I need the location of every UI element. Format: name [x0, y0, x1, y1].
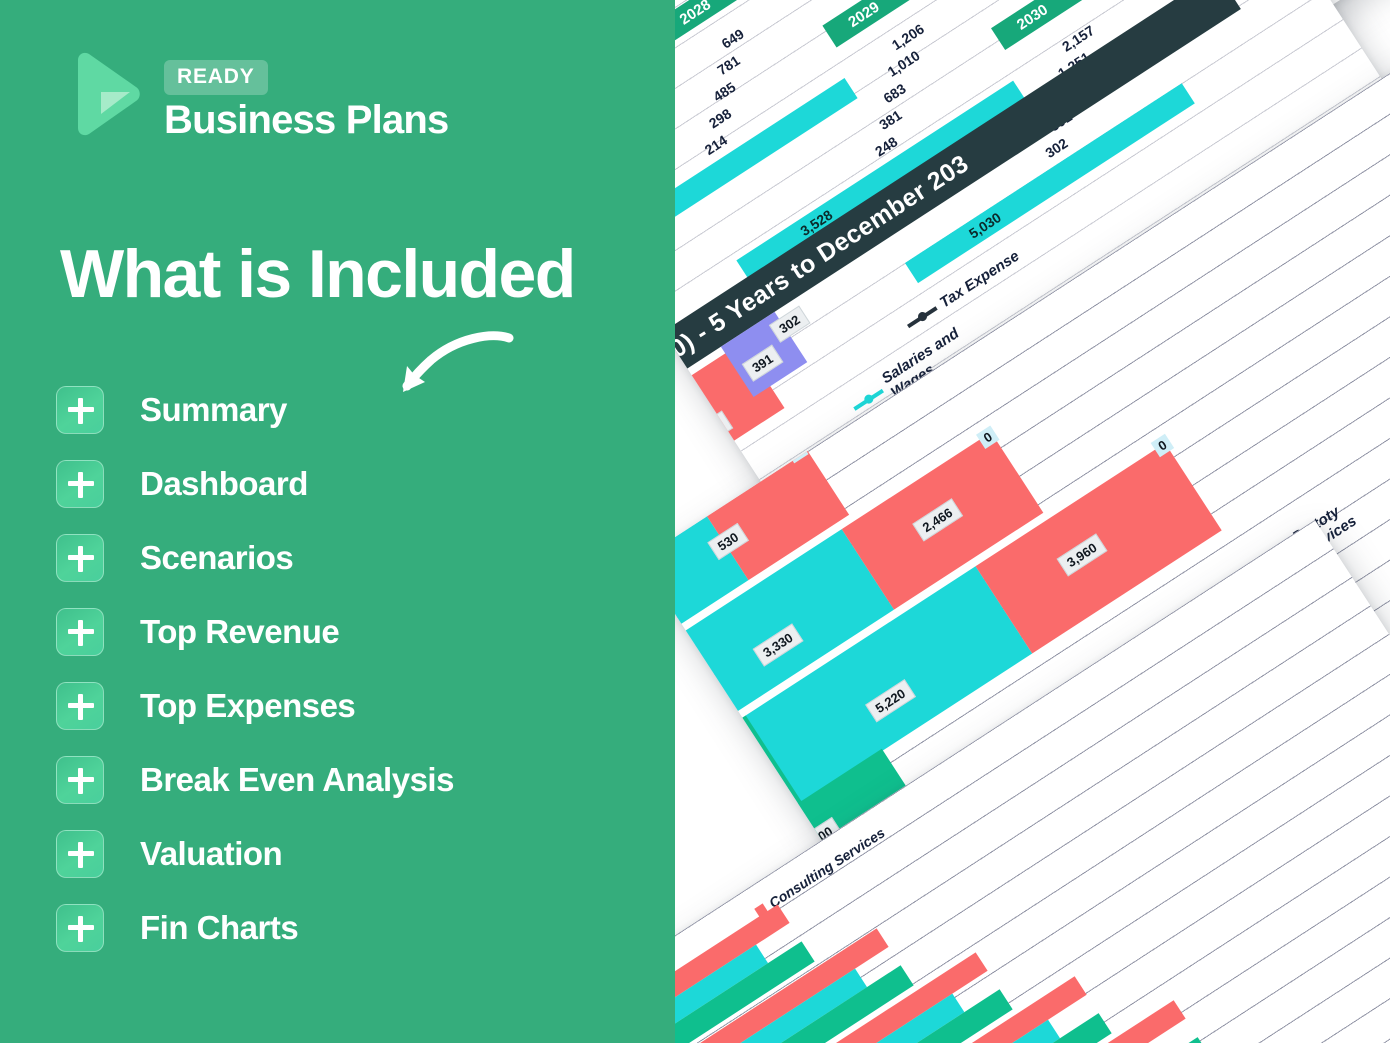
brand-text-block: READY Business Plans — [164, 52, 448, 140]
feature-item-scenarios[interactable]: Scenarios — [56, 533, 616, 582]
plus-icon[interactable] — [56, 534, 104, 582]
plus-icon[interactable] — [56, 386, 104, 434]
plus-icon[interactable] — [56, 608, 104, 656]
plus-icon[interactable] — [56, 830, 104, 878]
feature-item-summary[interactable]: Summary — [56, 385, 616, 434]
slide-canvas: ame e of Contents 128.9 2028 2029 2030 6… — [0, 0, 1390, 1043]
feature-label: Scenarios — [140, 539, 293, 577]
plus-icon[interactable] — [56, 682, 104, 730]
feature-item-top-revenue[interactable]: Top Revenue — [56, 607, 616, 656]
feature-item-break-even-analysis[interactable]: Break Even Analysis — [56, 755, 616, 804]
plus-icon[interactable] — [56, 460, 104, 508]
brand-name: Business Plans — [164, 100, 448, 140]
feature-item-valuation[interactable]: Valuation — [56, 829, 616, 878]
feature-list: Summary Dashboard Scenarios Top Revenue … — [56, 385, 616, 977]
feature-label: Dashboard — [140, 465, 308, 503]
feature-label: Top Revenue — [140, 613, 339, 651]
feature-label: Break Even Analysis — [140, 761, 454, 799]
feature-item-top-expenses[interactable]: Top Expenses — [56, 681, 616, 730]
plus-icon[interactable] — [56, 904, 104, 952]
brand-logo: READY Business Plans — [66, 52, 448, 140]
feature-item-fin-charts[interactable]: Fin Charts — [56, 903, 616, 952]
feature-label: Summary — [140, 391, 287, 429]
play-triangle-icon — [66, 52, 144, 138]
page-title: What is Included — [60, 240, 575, 308]
left-green-panel: READY Business Plans What is Included Su… — [0, 0, 675, 1043]
feature-item-dashboard[interactable]: Dashboard — [56, 459, 616, 508]
plus-icon[interactable] — [56, 756, 104, 804]
feature-label: Top Expenses — [140, 687, 355, 725]
feature-label: Fin Charts — [140, 909, 298, 947]
feature-label: Valuation — [140, 835, 282, 873]
ready-badge: READY — [164, 60, 268, 95]
